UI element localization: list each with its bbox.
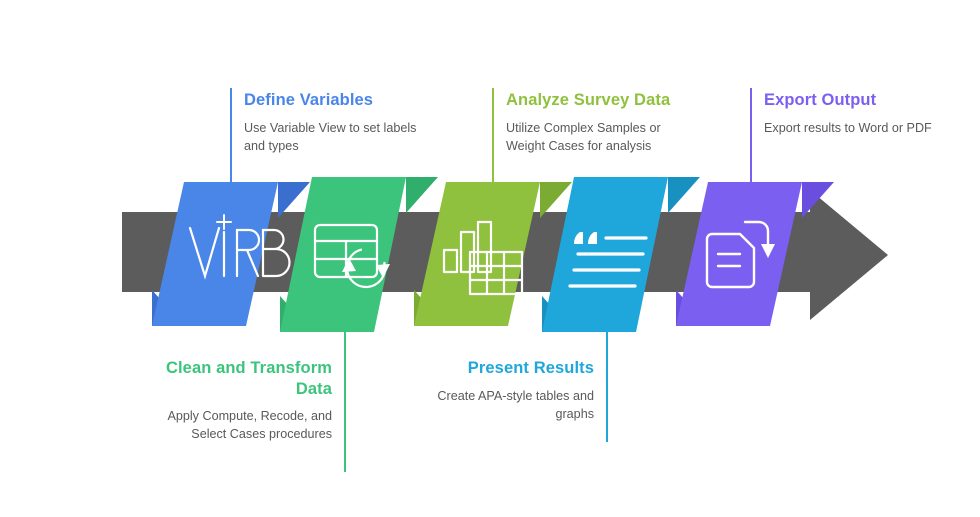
callout-title-3: Analyze Survey Data (506, 90, 701, 111)
callout-desc-4: Create APA-style tables and graphs (419, 388, 594, 424)
panel-2-face (280, 177, 406, 332)
infographic-canvas: Define Variables Use Variable View to se… (0, 0, 980, 517)
callout-rule-4 (606, 332, 608, 442)
callout-rule-1 (230, 88, 232, 188)
panel-1-face (152, 182, 278, 326)
callout-step-3: Analyze Survey Data Utilize Complex Samp… (492, 88, 707, 188)
callout-title-4: Present Results (419, 358, 594, 379)
callout-desc-3: Utilize Complex Samples or Weight Cases … (506, 120, 701, 156)
callout-rule-3 (492, 88, 494, 188)
callout-step-1: Define Variables Use Variable View to se… (230, 88, 445, 188)
callout-step-2: Clean and Transform Data Apply Compute, … (150, 332, 346, 472)
callout-title-5: Export Output (764, 90, 949, 111)
callout-step-5: Export Output Export results to Word or … (750, 88, 955, 188)
callout-desc-2: Apply Compute, Recode, and Select Cases … (157, 408, 332, 444)
callout-step-4: Present Results Create APA-style tables … (412, 332, 608, 442)
callout-desc-5: Export results to Word or PDF (764, 120, 949, 138)
callout-desc-1: Use Variable View to set labels and type… (244, 120, 439, 156)
callout-title-1: Define Variables (244, 90, 439, 111)
callout-title-2: Clean and Transform Data (157, 358, 332, 399)
callout-rule-2 (344, 332, 346, 472)
callout-rule-5 (750, 88, 752, 188)
